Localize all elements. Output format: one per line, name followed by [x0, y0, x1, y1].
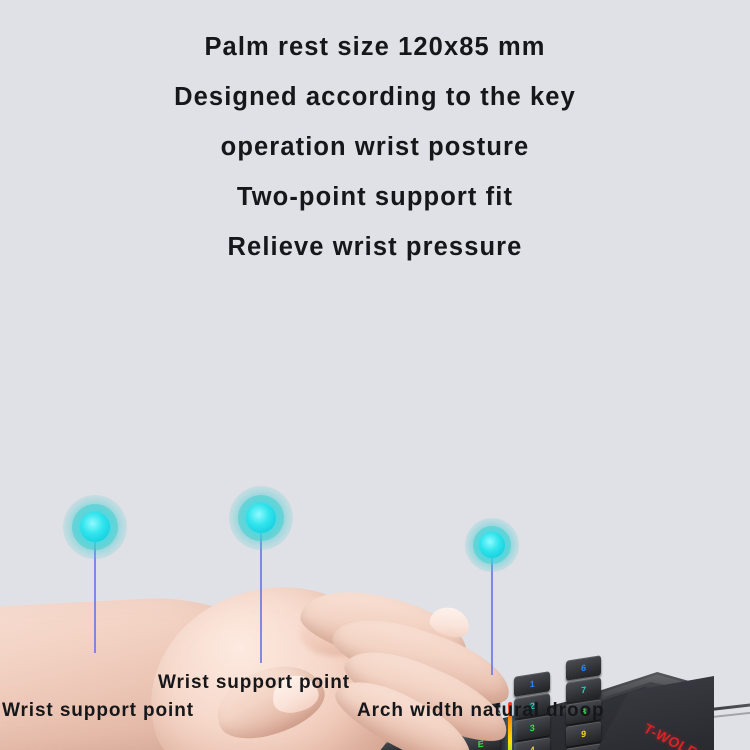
marker-core	[80, 512, 110, 542]
callout-label-3: Arch width natural droop	[357, 700, 605, 722]
headline-block: Palm rest size 120x85 mm Designed accord…	[0, 22, 750, 272]
callout-label-1: Wrist support point	[2, 700, 194, 722]
headline-line-3: operation wrist posture	[0, 122, 750, 172]
headline-line-5: Relieve wrist pressure	[0, 222, 750, 272]
callout-marker-3[interactable]	[465, 518, 519, 572]
callout-marker-2[interactable]	[229, 486, 293, 550]
product-scene: !ZXCVBASDFGQWERT1234567890 T-WOLF	[0, 280, 750, 680]
product-infographic: Palm rest size 120x85 mm Designed accord…	[0, 0, 750, 750]
callout-label-2: Wrist support point	[158, 672, 350, 694]
headline-line-4: Two-point support fit	[0, 172, 750, 222]
marker-core	[479, 532, 505, 558]
hand-illustration	[0, 580, 560, 750]
marker-core	[246, 503, 276, 533]
callout-marker-1[interactable]	[63, 495, 127, 559]
headline-line-2: Designed according to the key	[0, 72, 750, 122]
headline-line-1: Palm rest size 120x85 mm	[0, 22, 750, 72]
